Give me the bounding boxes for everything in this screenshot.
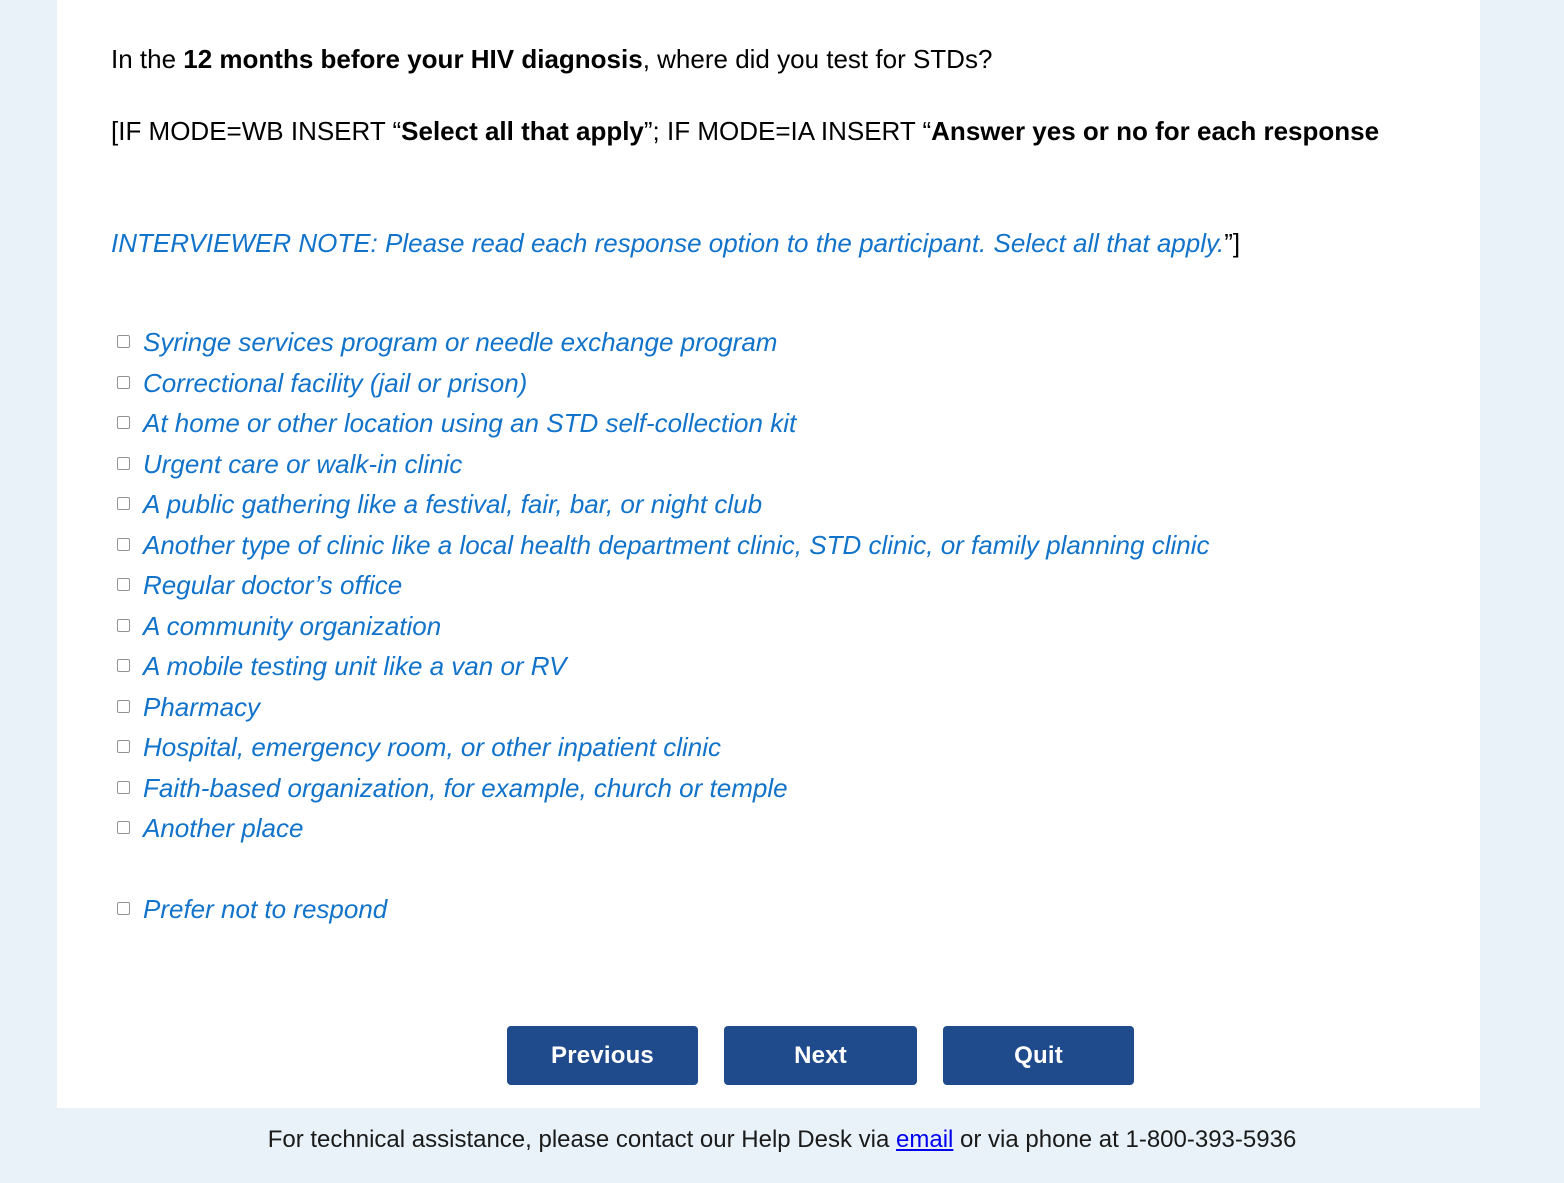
mode-instruction-text: [IF MODE=WB INSERT “Select all that appl… <box>111 112 1411 151</box>
option-row[interactable]: A community organization <box>117 606 1457 647</box>
option-label: Another type of clinic like a local heal… <box>113 525 1209 566</box>
option-row[interactable]: A public gathering like a festival, fair… <box>117 484 1457 525</box>
option-label: Faith-based organization, for example, c… <box>143 768 788 809</box>
option-row[interactable]: Another place <box>117 808 1457 849</box>
checkbox-icon[interactable] <box>117 457 130 470</box>
option-label: Pharmacy <box>143 687 260 728</box>
mode-instruction-bold1: Select all that apply <box>401 116 644 146</box>
option-label: Hospital, emergency room, or other inpat… <box>143 727 721 768</box>
option-label: Regular doctor’s office <box>143 565 402 606</box>
checkbox-icon[interactable] <box>117 740 130 753</box>
option-row[interactable]: Regular doctor’s office <box>117 565 1457 606</box>
checkbox-icon[interactable] <box>117 416 130 429</box>
footer-text-before-link: For technical assistance, please contact… <box>268 1126 896 1153</box>
option-row[interactable]: A mobile testing unit like a van or RV <box>117 646 1457 687</box>
navigation-buttons: Previous Next Quit <box>507 1026 1134 1085</box>
mode-instruction-part1: [IF MODE=WB INSERT “ <box>111 116 401 146</box>
option-label: A community organization <box>143 606 441 647</box>
option-label: Prefer not to respond <box>143 889 387 930</box>
option-row[interactable]: At home or other location using an STD s… <box>117 403 1457 444</box>
quit-button[interactable]: Quit <box>943 1026 1134 1085</box>
option-label: Correctional facility (jail or prison) <box>143 363 527 404</box>
interviewer-note-closer: ”] <box>1224 228 1240 258</box>
options-spacer <box>117 849 1457 889</box>
question-lead: In the <box>111 44 183 74</box>
footer-email-link[interactable]: email <box>896 1126 953 1153</box>
question-emphasis: 12 months before your HIV diagnosis <box>183 44 642 74</box>
previous-button[interactable]: Previous <box>507 1026 698 1085</box>
checkbox-icon[interactable] <box>117 700 130 713</box>
option-row[interactable]: Another type of clinic like a local heal… <box>117 525 1457 566</box>
checkbox-icon[interactable] <box>117 659 130 672</box>
next-button[interactable]: Next <box>724 1026 917 1085</box>
option-label: A mobile testing unit like a van or RV <box>143 646 566 687</box>
mode-instruction-part2: ”; IF MODE=IA INSERT “ <box>644 116 931 146</box>
checkbox-icon[interactable] <box>117 821 130 834</box>
option-label: Another place <box>143 808 303 849</box>
option-label: A public gathering like a festival, fair… <box>143 484 762 525</box>
option-label: At home or other location using an STD s… <box>143 403 796 444</box>
checkbox-icon[interactable] <box>117 619 130 632</box>
checkbox-icon[interactable] <box>117 578 130 591</box>
checkbox-icon[interactable] <box>117 335 130 348</box>
option-row[interactable]: Correctional facility (jail or prison) <box>117 363 1457 404</box>
question-tail: , where did you test for STDs? <box>643 44 993 74</box>
option-row[interactable]: Hospital, emergency room, or other inpat… <box>117 727 1457 768</box>
option-label: Urgent care or walk-in clinic <box>143 444 462 485</box>
option-row[interactable]: Urgent care or walk-in clinic <box>117 444 1457 485</box>
option-row[interactable]: Pharmacy <box>117 687 1457 728</box>
option-row-prefer-not-to-respond[interactable]: Prefer not to respond <box>117 889 1457 930</box>
checkbox-icon[interactable] <box>117 902 130 915</box>
survey-page: In the 12 months before your HIV diagnos… <box>0 0 1564 1183</box>
checkbox-icon[interactable] <box>117 497 130 510</box>
interviewer-note: INTERVIEWER NOTE: Please read each respo… <box>111 224 1421 263</box>
footer-help-text: For technical assistance, please contact… <box>0 1126 1564 1154</box>
checkbox-icon[interactable] <box>117 376 130 389</box>
survey-content-panel: In the 12 months before your HIV diagnos… <box>57 0 1480 1108</box>
mode-instruction-bold2: Answer yes or no for each response <box>931 116 1379 146</box>
option-label: Syringe services program or needle excha… <box>143 322 777 363</box>
options-list: Syringe services program or needle excha… <box>117 322 1457 929</box>
option-row[interactable]: Syringe services program or needle excha… <box>117 322 1457 363</box>
checkbox-icon[interactable] <box>117 781 130 794</box>
footer-text-after-link: or via phone at 1-800-393-5936 <box>953 1126 1296 1153</box>
option-row[interactable]: Faith-based organization, for example, c… <box>117 768 1457 809</box>
interviewer-note-text: INTERVIEWER NOTE: Please read each respo… <box>111 228 1224 258</box>
question-text: In the 12 months before your HIV diagnos… <box>111 40 1441 79</box>
